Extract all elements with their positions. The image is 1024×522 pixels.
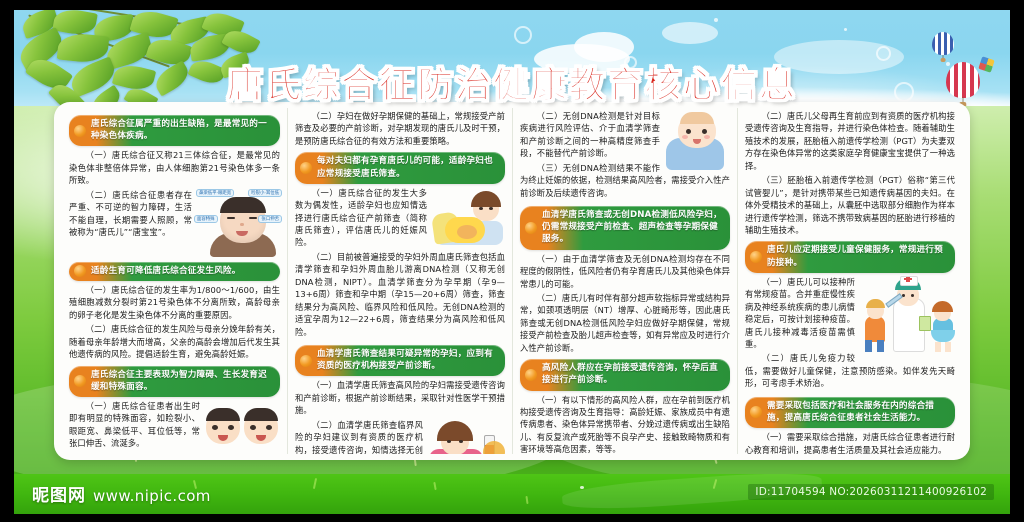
poster-title-area: 唐氏综合征防治健康教育核心信息 [14,56,1010,108]
paragraph: （一）唐氏综合征的发生率为1/800～1/600，由生殖细胞减数分裂时第21号染… [69,284,280,321]
pregnant-woman-illustration [431,187,505,249]
callout-tag: 鼻梁低平·眼距宽 [196,189,234,197]
cloud-shape [662,22,718,44]
paragraph: （一）唐氏综合征又称21三体综合征，是最常见的染色体非整倍体异常，由人体细胞第2… [69,149,280,186]
paragraph: （一）血清学唐氏筛查高风险的孕妇需接受遗传咨询和产前诊断，根据产前诊断结果，采取… [295,379,505,416]
section-heading: 唐氏综合征属严重的出生缺陷，是最常见的一种染色体疾病。 [69,115,280,146]
paragraph: （一）有以下情形的高风险人群，应在孕前到医疗机构接受遗传咨询及生育指导：高龄妊娠… [520,394,730,454]
section-heading: 血清学唐氏筛查或无创DNA检测低风险孕妇，仍需常规接受产前检查、超声检查等孕期保… [520,206,730,250]
content-column-4: （二）唐氏儿父母再生育前应到有资质的医疗机构接受遗传咨询及生育指导，并进行染色体… [737,108,962,454]
bubble-decoration [514,26,532,44]
paragraph: （一）需要采取综合措施，对唐氏综合征患者进行耐心教育和培训，提高患者生活质量及其… [745,431,955,454]
down-syndrome-child-illustration: 鼻梁低平·眼距宽 睑裂小·耳位低 面容特殊 张口伸舌 [196,189,280,255]
watermark-brand: 昵图网 [32,481,86,506]
section-heading: 适龄生育可降低唐氏综合征发生风险。 [69,262,280,281]
watermark-bar: 昵图网 www.nipic.com ID:11704594 NO:2026031… [14,474,1010,514]
sparkle-dot [844,28,847,31]
paragraph: （二）唐氏儿免疫力较低，需要做好儿童保健，注意预防感染。如伴发先天畸形，可考虑手… [745,352,955,389]
paragraph: （三）胚胎植入前遗传学检测（PGT）俗称“第三代试管婴儿”，是针对携带某些已知遗… [745,174,955,236]
poster-frame: 唐氏综合征防治健康教育核心信息 唐氏综合征属严重的出生缺陷，是最常见的一种染色体… [14,10,1010,514]
baby-illustration [664,110,730,170]
section-heading: 唐氏儿应定期接受儿童保健服务，常规进行预防接种。 [745,241,955,272]
section-heading: 血清学唐氏筛查结果可疑异常的孕妇，应到有资质的医疗机构接受产前诊断。 [295,345,505,376]
paragraph: （二）目前被普遍接受的孕妇外周血唐氏筛查包括血清学筛查和孕妇外周血胎儿游离DNA… [295,251,505,338]
paragraph: （二）孕妇在做好孕期保健的基础上，常规接受产前筛查及必要的产前诊断，对孕期发现的… [295,110,505,147]
poster-image: 唐氏综合征防治健康教育核心信息 唐氏综合征属严重的出生缺陷，是最常见的一种染色体… [0,0,1024,522]
section-heading: 唐氏综合征主要表现为智力障碍、生长发育迟缓和特殊面容。 [69,366,280,397]
content-column-2: （二）孕妇在做好孕期保健的基础上，常规接受产前筛查及必要的产前诊断，对孕期发现的… [287,108,512,454]
section-heading: 需要采取包括医疗和社会服务在内的综合措施，提高唐氏综合征患者社会生活能力。 [745,397,955,428]
content-card: 唐氏综合征属严重的出生缺陷，是最常见的一种染色体疾病。 （一）唐氏综合征又称21… [54,102,970,460]
paragraph: （二）唐氏儿有时伴有部分超声软指标异常或结构异常，如颈项透明层（NT）增厚、心脏… [520,292,730,354]
callout-tag: 面容特殊 [194,215,218,223]
image-id-label: ID:11704594 NO:20260311211400926102 [748,484,994,500]
section-heading: 高风险人群应在孕前接受遗传咨询，怀孕后直接进行产前诊断。 [520,359,730,390]
paragraph: （一）由于血清学筛查及无创DNA检测均存在不同程度的假阴性，低风险者仍有孕育唐氏… [520,253,730,290]
content-column-3: （二）无创DNA检测是针对目标疾病进行风险评估、介于血清学筛查和产前诊断之间的一… [512,108,737,454]
page-title: 唐氏综合征防治健康教育核心信息 [227,56,797,108]
section-heading: 每对夫妇都有孕育唐氏儿的可能，适龄孕妇也应常规接受唐氏筛查。 [295,152,505,183]
sparkle-dot [714,18,718,22]
watermark: 昵图网 www.nipic.com [32,481,211,506]
paragraph: （二）唐氏儿父母再生育前应到有资质的医疗机构接受遗传咨询及生育指导，并进行染色体… [745,110,955,172]
watermark-url: www.nipic.com [93,487,211,505]
paragraph: （二）唐氏综合征的发生风险与母亲分娩年龄有关，随着母亲年龄增大而增高，父亲的高龄… [69,323,280,360]
blood-test-illustration [427,419,505,454]
content-column-1: 唐氏综合征属严重的出生缺陷，是最常见的一种染色体疾病。 （一）唐氏综合征又称21… [62,108,287,454]
nurse-with-children-illustration [859,276,955,354]
two-children-faces-illustration [204,400,280,452]
callout-tag: 张口伸舌 [258,215,282,223]
sparkle-dot [580,486,584,489]
callout-tag: 睑裂小·耳位低 [248,189,282,197]
